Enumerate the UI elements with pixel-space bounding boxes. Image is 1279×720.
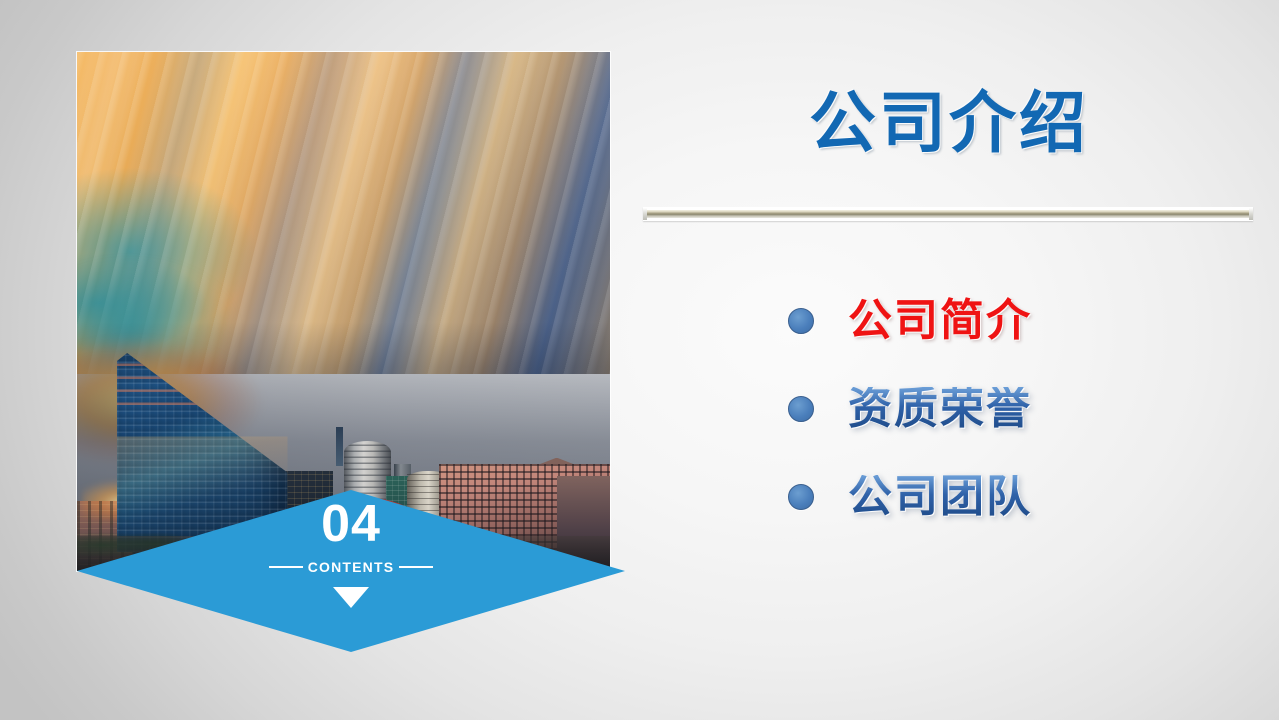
agenda-item-3[interactable]: 公司团队 [643,453,1253,541]
agenda-item-2-label: 资质荣誉 [848,387,1032,431]
bullet-dot-icon [788,396,814,422]
divider-bar [645,210,1251,218]
divider-cap-left [643,208,647,220]
contents-rule-left [269,566,303,568]
section-number: 04 [321,498,381,550]
agenda-item-3-label: 公司团队 [848,475,1032,519]
presentation-slide: 04 CONTENTS 公司介绍 公司简介 资质荣誉 公司团队 [0,0,1279,720]
title-divider [643,207,1253,221]
contents-rule-right [399,566,433,568]
divider-cap-right [1249,208,1253,220]
bullet-dot-icon [788,484,814,510]
contents-label: CONTENTS [308,559,395,575]
page-title: 公司介绍 [643,88,1255,159]
agenda-list: 公司简介 资质荣誉 公司团队 [643,277,1253,541]
bullet-dot-icon [788,308,814,334]
agenda-item-2[interactable]: 资质荣誉 [643,365,1253,453]
caret-down-icon [333,587,369,608]
agenda-item-1-label: 公司简介 [848,299,1032,343]
agenda-item-1[interactable]: 公司简介 [643,277,1253,365]
contents-label-row: CONTENTS [269,559,434,575]
thin-spire [336,427,343,467]
